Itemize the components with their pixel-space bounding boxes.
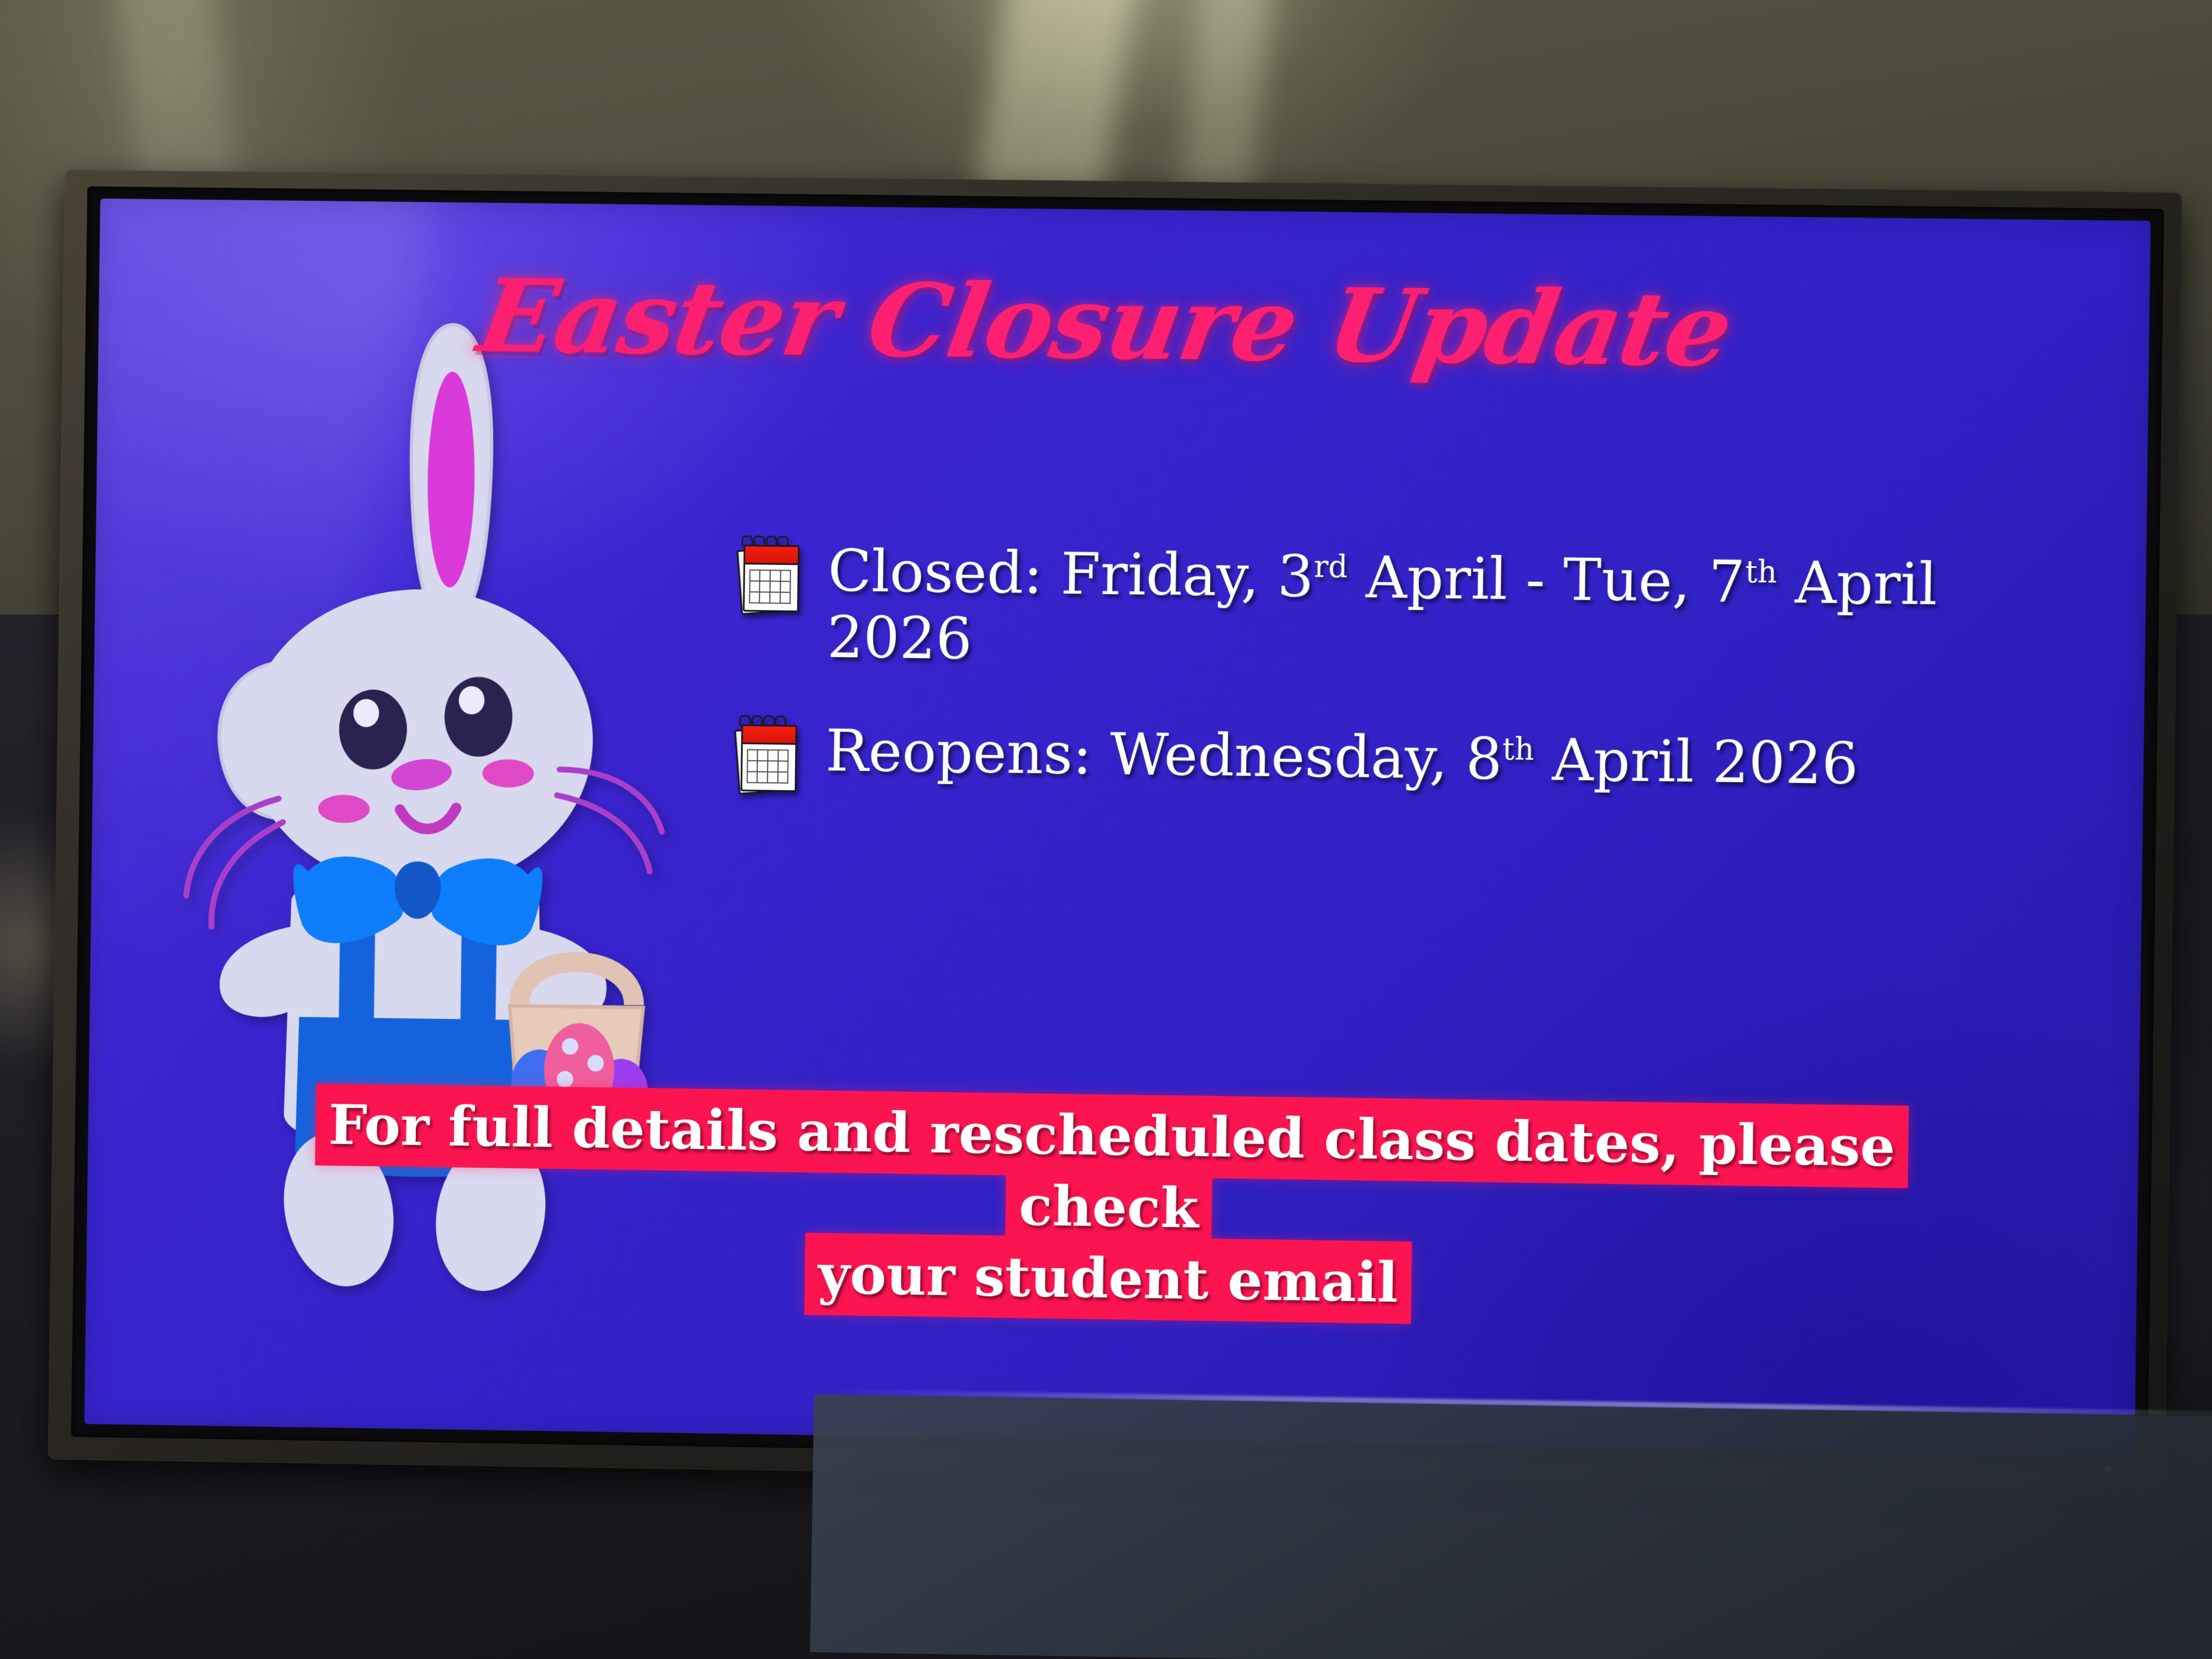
bullet-suffix: April 2026: [1533, 726, 1859, 797]
list-item-label: Reopens: Wednesday, 8th April 2026: [825, 718, 1859, 797]
bullet-ordinal: rd: [1314, 549, 1348, 585]
bullet-ordinal: th: [1502, 731, 1534, 767]
callout-line-2: your student email: [805, 1234, 1410, 1323]
calendar-icon: [738, 539, 803, 612]
wall-mounted-tv: Easter Closure Update: [48, 170, 2182, 1492]
signage-slide: Easter Closure Update: [84, 199, 2151, 1455]
list-item: Closed: Friday, 3rd April - Tue, 7th Apr…: [737, 537, 2053, 686]
callout-banner: For full details and rescheduled class d…: [239, 1088, 1984, 1327]
bullet-ordinal: th: [1745, 555, 1778, 590]
bullet-prefix: Reopens: Wednesday, 8: [825, 717, 1503, 793]
cabinet-face: [810, 1395, 2212, 1659]
bullet-prefix: Closed: Friday, 3: [827, 538, 1314, 611]
slide-title: Easter Closure Update: [298, 262, 1915, 385]
list-item: Reopens: Wednesday, 8th April 2026: [735, 716, 2051, 808]
photo-scene: Easter Closure Update: [0, 0, 2212, 1659]
calendar-icon: [735, 719, 800, 792]
slide-bullet-list: Closed: Friday, 3rd April - Tue, 7th Apr…: [735, 537, 2053, 855]
list-item-label: Closed: Friday, 3rd April - Tue, 7th Apr…: [827, 538, 2053, 686]
bullet-middle: April - Tue, 7: [1347, 544, 1746, 616]
callout-line-1: For full details and rescheduled class d…: [316, 1085, 1908, 1249]
